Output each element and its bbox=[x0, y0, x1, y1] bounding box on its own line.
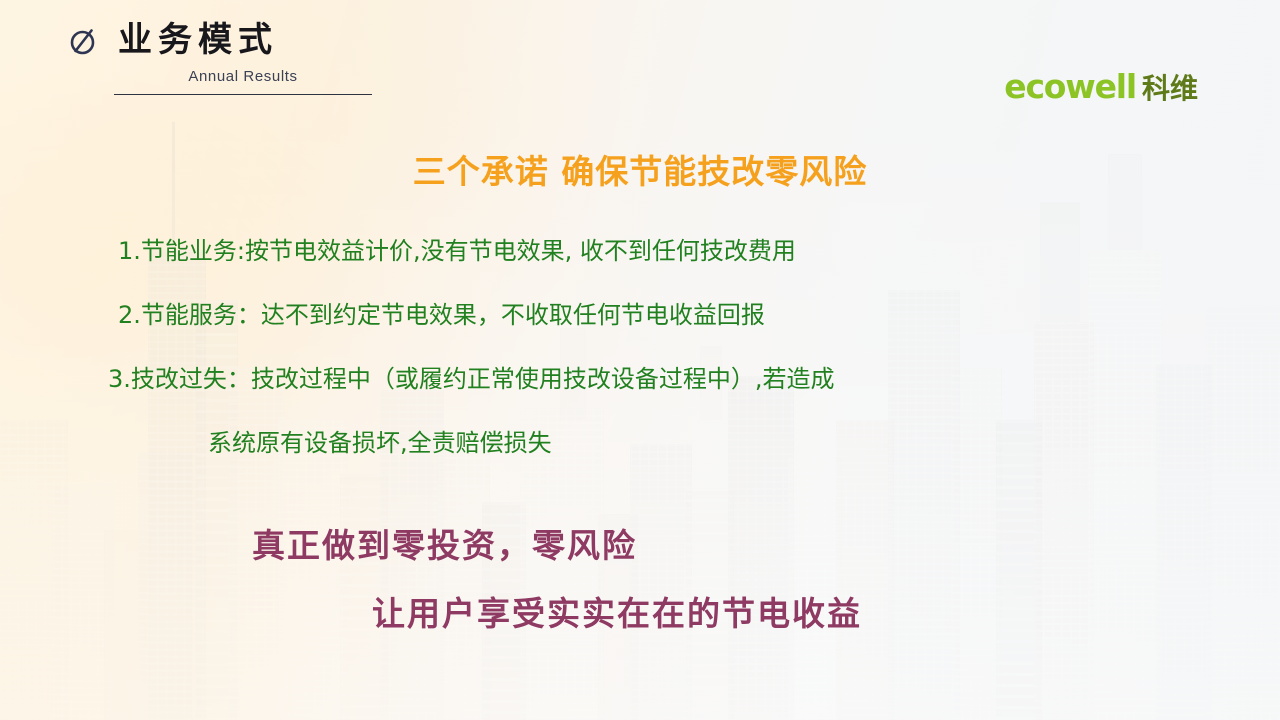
slide-header: 业务模式 Annual Results bbox=[66, 22, 486, 95]
brand-wordmark: ecowell bbox=[1004, 70, 1136, 103]
list-item: 2.节能服务：达不到约定节电效果，不收取任何节电收益回报 bbox=[118, 302, 765, 328]
brand-chinese-name: 科维 bbox=[1142, 75, 1198, 103]
page-subtitle: Annual Results bbox=[114, 68, 372, 85]
circle-slash-icon bbox=[66, 22, 102, 58]
closing-line: 真正做到零投资，零风险 bbox=[252, 528, 637, 564]
page-title: 业务模式 bbox=[118, 23, 278, 57]
list-item: 1.节能业务:按节电效益计价,没有节电效果, 收不到任何技改费用 bbox=[118, 238, 796, 264]
title-row: 业务模式 bbox=[66, 22, 486, 58]
list-item-continuation: 系统原有设备损坏,全责赔偿损失 bbox=[208, 430, 552, 456]
brand-logo: ecowell 科维 bbox=[1004, 70, 1198, 103]
subtitle-block: Annual Results bbox=[114, 68, 372, 95]
list-item: 3.技改过失：技改过程中（或履约正常使用技改设备过程中）,若造成 bbox=[108, 366, 835, 392]
closing-line: 让用户享受实实在在的节电收益 bbox=[372, 596, 862, 632]
subtitle-divider bbox=[114, 94, 372, 95]
presentation-slide: 业务模式 Annual Results ecowell 科维 三个承诺 确保节能… bbox=[0, 0, 1280, 720]
section-headline: 三个承诺 确保节能技改零风险 bbox=[0, 145, 1280, 193]
